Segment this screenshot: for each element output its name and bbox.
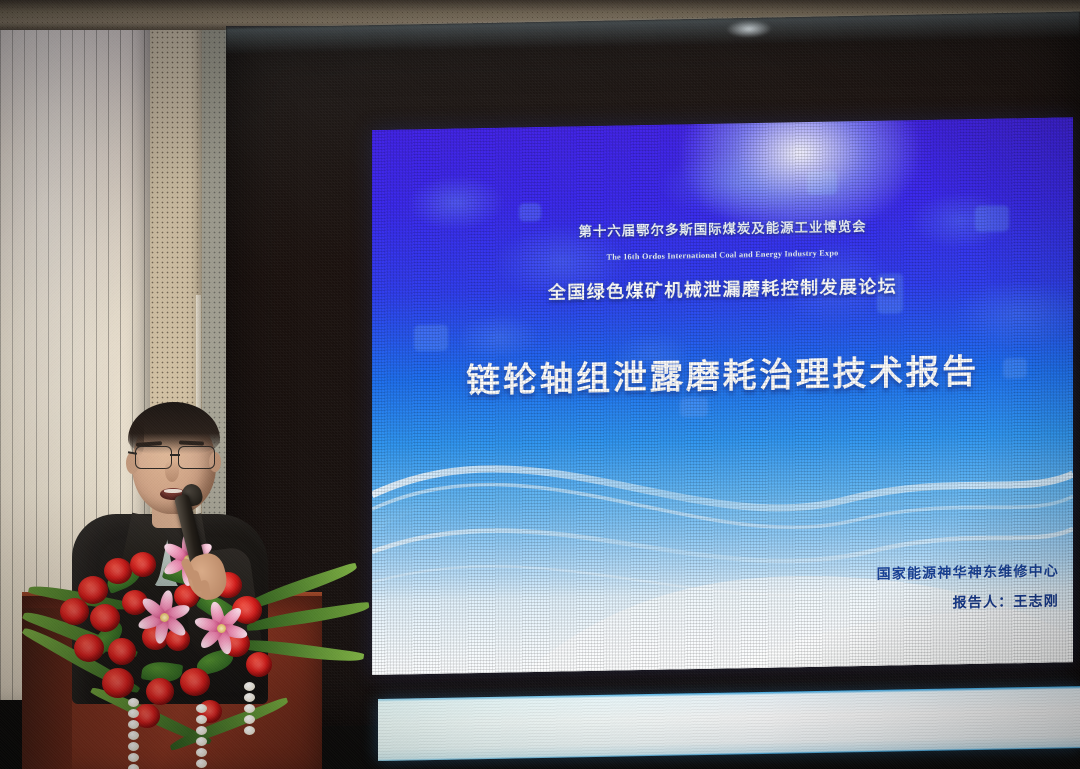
white-orchid-spray — [196, 704, 208, 769]
red-carnation — [146, 678, 174, 705]
slide-text-block: 第十六届鄂尔多斯国际煤炭及能源工业博览会 The 16th Ordos Inte… — [372, 117, 1073, 675]
orchid-floret — [196, 737, 207, 746]
orchid-floret — [244, 704, 255, 713]
pink-lily — [134, 588, 194, 646]
orchid-floret — [128, 698, 139, 707]
lily-center — [217, 624, 226, 633]
palm-frond — [168, 697, 291, 751]
slide-forum-title-cn: 全国绿色煤矿机械泄漏磨耗控制发展论坛 — [372, 269, 1073, 308]
orchid-floret — [244, 715, 255, 724]
white-orchid-spray — [128, 698, 140, 769]
orchid-floret — [244, 693, 255, 702]
pink-lily — [190, 598, 252, 658]
red-carnation — [130, 552, 156, 577]
orchid-floret — [128, 742, 139, 751]
orchid-floret — [196, 759, 207, 768]
orchid-floret — [244, 682, 255, 691]
red-carnation — [108, 638, 136, 665]
orchid-floret — [128, 709, 139, 718]
speaker-nose — [165, 460, 179, 482]
orchid-floret — [128, 753, 139, 762]
orchid-floret — [196, 715, 207, 724]
orchid-floret — [128, 764, 139, 769]
lily-center — [160, 613, 169, 622]
red-carnation — [60, 598, 89, 625]
eyeglass-temple — [128, 451, 137, 454]
slide-expo-header-cn: 第十六届鄂尔多斯国际煤炭及能源工业博览会 — [372, 211, 1073, 244]
palm-frond — [246, 601, 371, 631]
conference-photo-scene: 第十六届鄂尔多斯国际煤炭及能源工业博览会 The 16th Ordos Inte… — [0, 0, 1080, 769]
presentation-slide: 第十六届鄂尔多斯国际煤炭及能源工业博览会 The 16th Ordos Inte… — [372, 117, 1073, 675]
orchid-floret — [244, 726, 255, 735]
slide-presenter: 报告人：王志刚 — [953, 590, 1059, 612]
red-carnation — [102, 668, 134, 698]
red-carnation — [74, 634, 104, 662]
white-orchid-spray — [244, 682, 256, 737]
eyeglass-lens-right — [178, 446, 215, 469]
orchid-floret — [128, 720, 139, 729]
slide-expo-header-en: The 16th Ordos International Coal and En… — [372, 244, 1073, 266]
slide-organization: 国家能源神华神东维修中心 — [877, 560, 1059, 583]
eyeglass-bridge — [170, 454, 180, 456]
orchid-floret — [128, 731, 139, 740]
orchid-floret — [196, 704, 207, 713]
lower-display-panel — [378, 686, 1080, 761]
red-carnation — [90, 604, 120, 632]
orchid-floret — [196, 726, 207, 735]
slide-main-title: 链轮轴组泄露磨耗治理技术报告 — [372, 342, 1073, 404]
orchid-floret — [196, 748, 207, 757]
red-carnation — [180, 668, 210, 696]
red-carnation — [104, 558, 132, 584]
